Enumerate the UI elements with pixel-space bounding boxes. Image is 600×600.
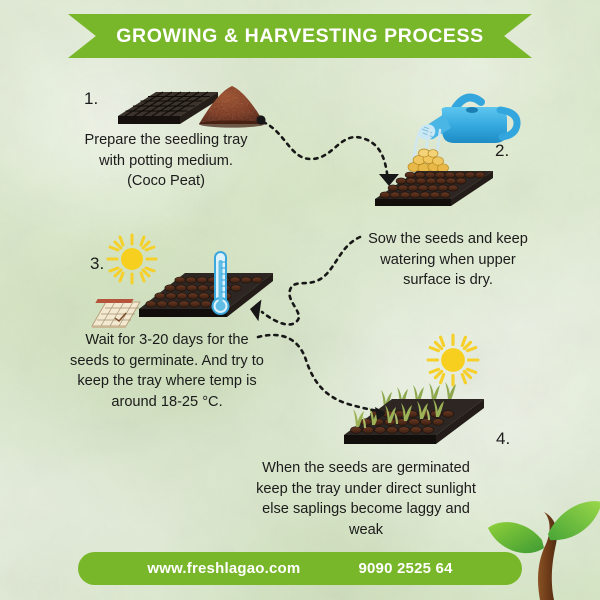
step-1-number: 1. [84, 89, 98, 109]
page-title: GROWING & HARVESTING PROCESS [116, 25, 483, 48]
infographic-canvas: GROWING & HARVESTING PROCESS 1. [0, 0, 600, 600]
step-3-number: 3. [90, 254, 104, 274]
footer-website[interactable]: www.freshlagao.com [147, 560, 300, 577]
step-4-number: 4. [496, 429, 510, 449]
footer-contact-bar: www.freshlagao.com 9090 2525 64 [78, 552, 522, 585]
sprouted-seedling-tray-icon [338, 373, 488, 451]
step-2-caption: Sow the seeds and keep watering when upp… [358, 229, 538, 291]
step-1-caption: Prepare the seedling tray with potting m… [78, 130, 254, 192]
title-ribbon: GROWING & HARVESTING PROCESS [68, 14, 532, 58]
coco-peat-mound-icon [196, 83, 268, 131]
filled-seedling-tray-icon-step2 [371, 163, 497, 211]
filled-seedling-tray-icon-step3 [135, 265, 277, 323]
footer-phone[interactable]: 9090 2525 64 [358, 560, 452, 577]
arrow-step1-to-step2 [263, 122, 388, 180]
step-4-caption: When the seeds are germinated keep the t… [248, 458, 484, 541]
thermometer-icon [209, 250, 233, 316]
step-3-caption: Wait for 3-20 days for the seeds to germ… [68, 330, 266, 413]
